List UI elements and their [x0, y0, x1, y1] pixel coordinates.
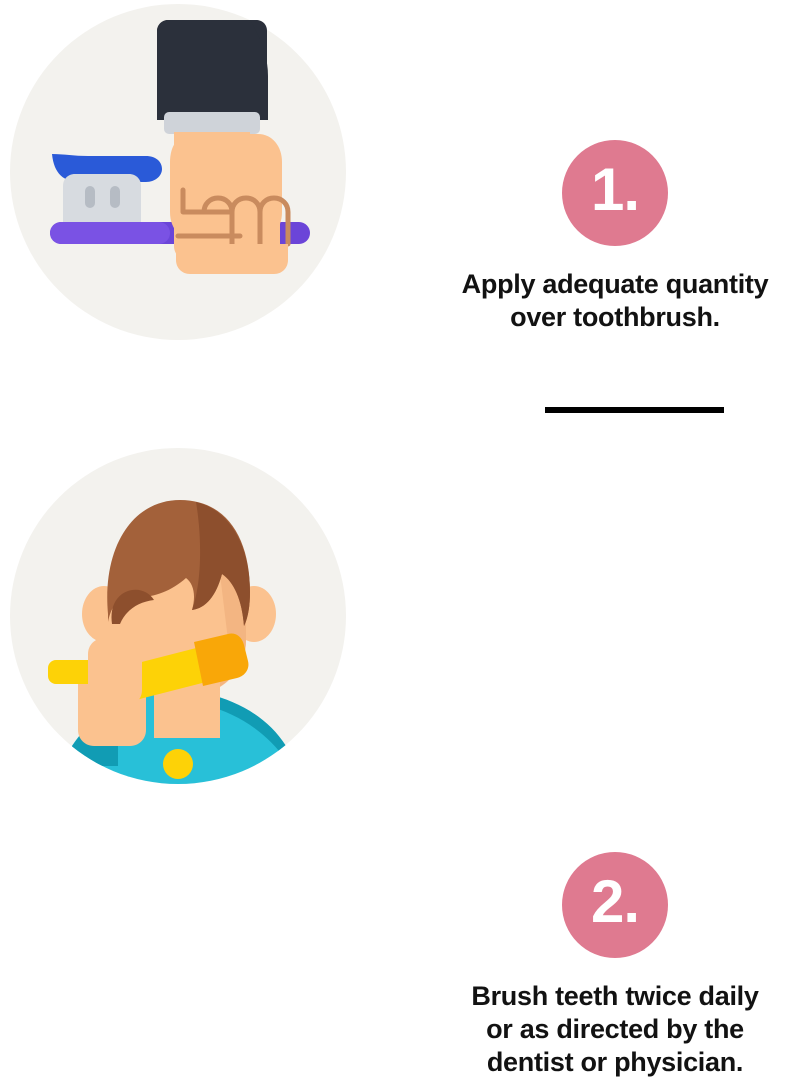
step-2-number-badge: 2.: [562, 852, 668, 958]
step-1-caption: Apply adequate quantity over toothbrush.: [443, 268, 788, 334]
step-2-text-column: 2. Brush teeth twice daily or as directe…: [430, 852, 800, 1079]
step-2-caption-line-3: dentist or physician.: [443, 1046, 788, 1079]
infographic-page: 1. Apply adequate quantity over toothbru…: [0, 0, 800, 800]
step-1-text-column: 1. Apply adequate quantity over toothbru…: [430, 140, 800, 334]
step-1-section: 1. Apply adequate quantity over toothbru…: [0, 0, 800, 400]
step-2-section: 2. Brush teeth twice daily or as directe…: [0, 400, 800, 800]
step-1-number: 1.: [591, 160, 639, 220]
step-2-caption: Brush teeth twice daily or as directed b…: [443, 980, 788, 1079]
step-1-caption-line-1: Apply adequate quantity: [443, 268, 788, 301]
step-2-number: 2.: [591, 872, 639, 932]
step-2-caption-line-1: Brush teeth twice daily: [443, 980, 788, 1013]
hand-holding-toothbrush-illustration: [8, 2, 348, 342]
step-1-caption-line-2: over toothbrush.: [443, 301, 788, 334]
step-2-caption-line-2: or as directed by the: [443, 1013, 788, 1046]
step-1-number-badge: 1.: [562, 140, 668, 246]
boy-brushing-teeth-illustration: [8, 446, 348, 786]
